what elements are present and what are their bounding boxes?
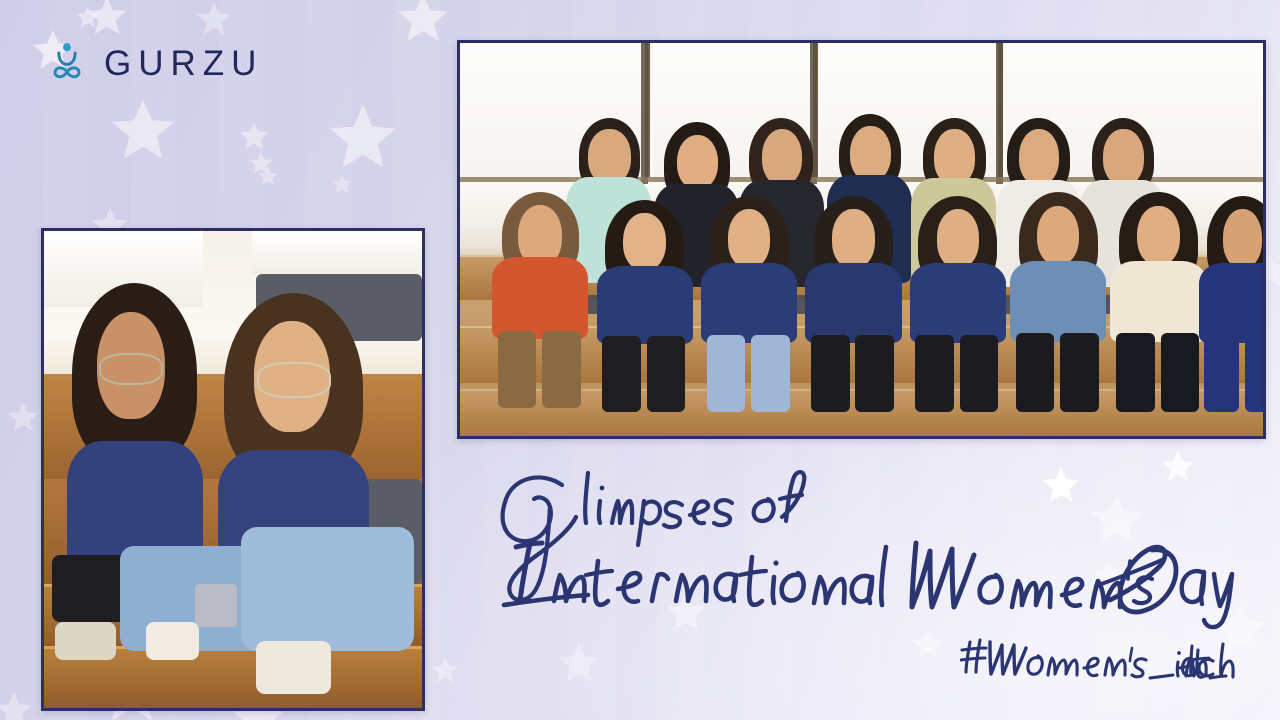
background-star — [430, 655, 460, 685]
brand-logo: GURZU — [44, 40, 263, 86]
background-star — [326, 100, 400, 174]
background-star — [75, 4, 101, 30]
headline-day-word — [1090, 520, 1240, 630]
background-star — [108, 95, 178, 165]
gurzu-meditation-infinity-logo-icon — [44, 40, 90, 86]
poster-canvas: GURZU — [0, 0, 1280, 720]
duo-photo-image — [44, 231, 422, 708]
background-star — [257, 165, 279, 187]
background-star — [556, 640, 602, 686]
background-star — [395, 0, 451, 46]
background-star — [0, 690, 34, 720]
background-star — [910, 626, 946, 662]
background-star — [248, 150, 274, 176]
background-star — [238, 120, 270, 152]
background-star — [85, 0, 129, 38]
brand-wordmark: GURZU — [104, 46, 263, 81]
duo-photo-frame[interactable] — [41, 228, 425, 711]
background-star — [330, 172, 354, 196]
headline-script: Glimpses of — [470, 455, 1170, 615]
hashtag-tail — [1165, 628, 1245, 686]
background-star — [195, 0, 233, 38]
group-photo-frame[interactable] — [457, 40, 1266, 439]
background-star — [6, 400, 40, 434]
group-photo-image — [460, 43, 1263, 436]
